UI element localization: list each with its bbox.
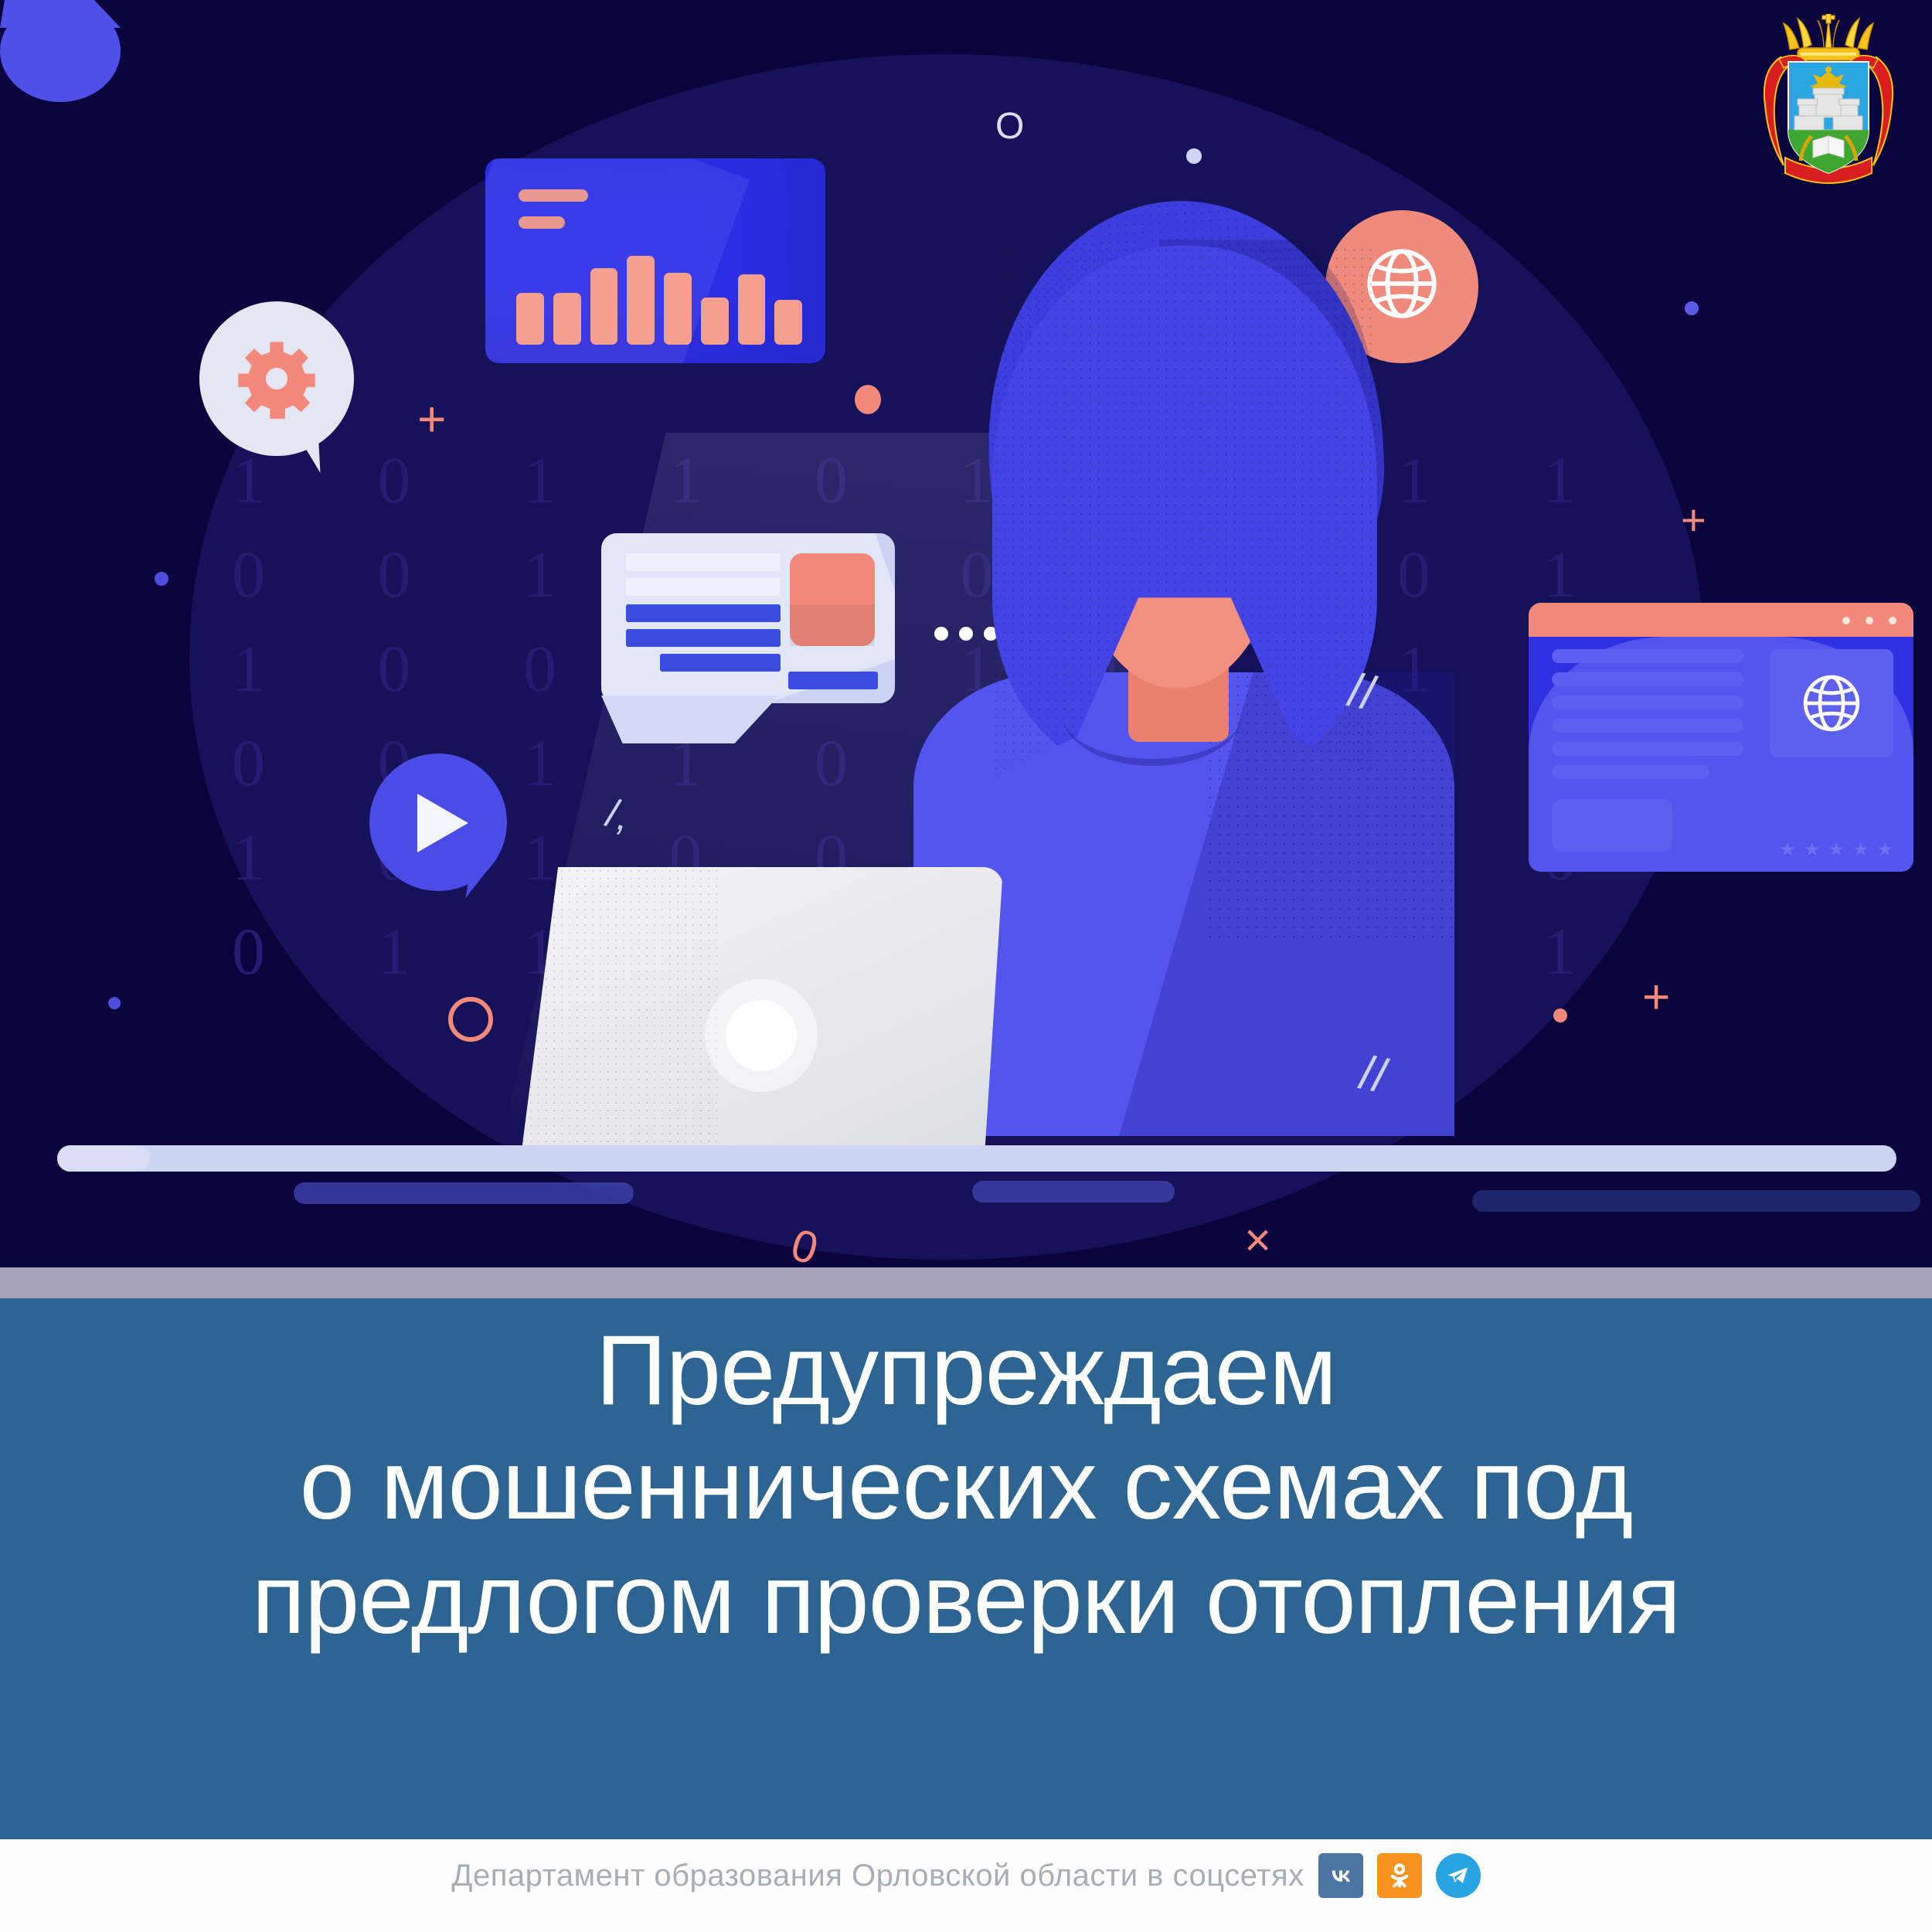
star-icon: ★ <box>1779 841 1796 859</box>
browser-window: ★★★★★ <box>1529 603 1913 872</box>
headline-line-1: Предупреждаем <box>0 1314 1932 1428</box>
telegram-icon[interactable] <box>1436 1853 1481 1898</box>
desk-accent-bar <box>972 1181 1175 1202</box>
hoodie-collar <box>1063 666 1241 766</box>
card-text-line <box>626 553 781 571</box>
card-button-line <box>788 672 878 689</box>
browser-text-line <box>1552 742 1743 756</box>
desk-edge <box>57 1145 150 1172</box>
content-card <box>601 533 895 703</box>
browser-body: ★★★★★ <box>1529 637 1913 872</box>
chart-bar <box>553 293 581 345</box>
divider-strip <box>0 1267 1932 1298</box>
dot-doodle <box>108 997 121 1009</box>
chart-bar <box>516 293 544 345</box>
card-text-line <box>626 629 781 647</box>
dot-doodle <box>855 385 881 414</box>
chart-title-placeholder <box>519 189 588 202</box>
plus-doodle: + <box>1642 970 1670 1025</box>
window-dot <box>1889 617 1896 624</box>
rating-stars: ★★★★★ <box>1779 841 1893 859</box>
chart-bar <box>627 256 655 345</box>
plus-doodle: + <box>417 390 446 447</box>
browser-text-line <box>1552 719 1743 733</box>
card-text-line <box>626 604 781 622</box>
typing-bubble <box>0 0 121 102</box>
plus-doodle: + <box>1681 495 1706 545</box>
window-dot <box>1842 617 1850 624</box>
dot-doodle <box>1186 148 1202 164</box>
page-title: Предупреждаем о мошеннических схемах под… <box>0 1314 1932 1657</box>
oryol-coat-of-arms-icon <box>1753 14 1904 192</box>
globe-icon <box>1795 667 1868 740</box>
browser-button-block <box>1552 799 1672 852</box>
star-icon: ★ <box>1804 841 1821 859</box>
browser-text-line <box>1552 765 1709 779</box>
gear-icon <box>235 337 318 420</box>
star-icon: ★ <box>1876 841 1893 859</box>
chart-bar <box>738 274 766 345</box>
browser-text-line <box>1552 672 1743 686</box>
hero-illustration: 1 0 1 1 0 1 1 0 1 1 0 1 1 0 1 1 0 1 1 0 … <box>0 0 1932 1267</box>
headline-line-2: о мошеннических схемах под <box>0 1428 1932 1543</box>
star-icon: ★ <box>1828 841 1845 859</box>
ring-doodle <box>448 997 493 1042</box>
laptop <box>519 867 1003 1168</box>
footer-text: Департамент образования Орловской област… <box>451 1859 1304 1893</box>
chart-bar <box>664 273 692 345</box>
desk-accent-bar <box>1472 1190 1920 1212</box>
headline-line-3: предлогом проверки отопления <box>0 1543 1932 1657</box>
desk-accent-bar <box>294 1182 634 1204</box>
play-bubble <box>369 753 507 891</box>
window-dot <box>1866 617 1873 624</box>
browser-globe-panel <box>1770 649 1893 757</box>
desk-surface <box>57 1145 1896 1172</box>
card-image-block <box>790 553 875 646</box>
star-icon: ★ <box>1852 841 1869 859</box>
ok-icon[interactable] <box>1377 1853 1422 1898</box>
cross-doodle: × <box>1244 1213 1271 1267</box>
dot-doodle <box>1685 301 1699 315</box>
browser-titlebar <box>1529 603 1913 637</box>
vk-icon[interactable] <box>1318 1853 1363 1898</box>
chart-bars <box>516 221 802 345</box>
card-text-line <box>626 578 781 596</box>
bar-chart-card <box>485 158 825 363</box>
card-text-line <box>660 654 781 672</box>
chart-bar <box>774 300 802 345</box>
dot-doodle <box>1553 1009 1567 1022</box>
chart-bar <box>590 268 618 345</box>
dot-doodle <box>155 572 168 586</box>
footer-row: Департамент образования Орловской област… <box>0 1853 1932 1898</box>
bubble-tail <box>0 0 121 28</box>
laptop-logo-icon <box>705 979 818 1092</box>
browser-text-line <box>1552 696 1743 709</box>
chart-bar <box>701 298 729 345</box>
settings-bubble <box>199 301 354 456</box>
play-icon <box>417 794 468 852</box>
circle-doodle: O <box>995 105 1024 148</box>
poster-root: 1 0 1 1 0 1 1 0 1 1 0 1 1 0 1 1 0 1 1 0 … <box>0 0 1932 1932</box>
browser-text-line <box>1552 649 1743 663</box>
